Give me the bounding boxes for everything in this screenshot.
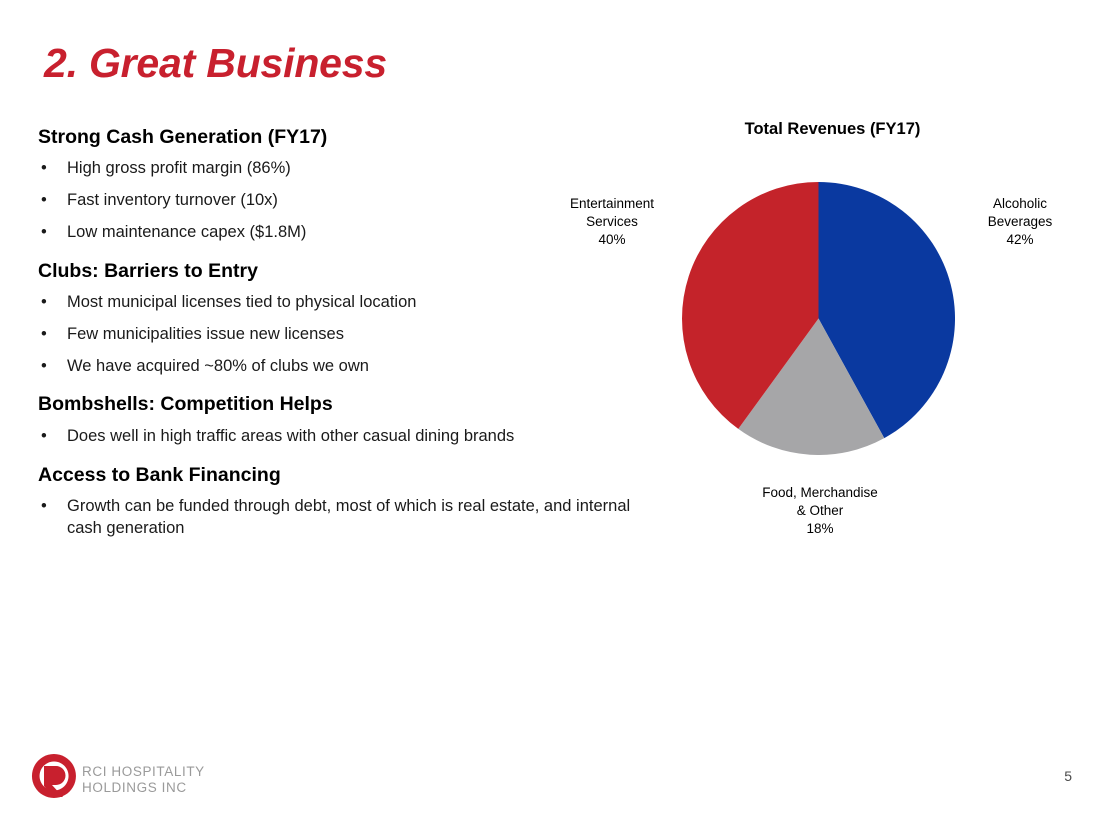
chart-title: Total Revenues (FY17) [545, 120, 1090, 139]
logo-wordmark: RCI HOSPITALITY HOLDINGS INC [82, 764, 205, 796]
list-item-label: Low maintenance capex ($1.8M) [67, 223, 306, 241]
pie-svg [682, 182, 955, 455]
pie-label-line: Food, Merchandise [705, 484, 935, 502]
list-item-label: Fast inventory turnover (10x) [67, 191, 278, 209]
pie-graphic [682, 182, 955, 455]
bullet-dot-icon: • [41, 222, 47, 244]
pie-label-line: Services [547, 213, 677, 231]
logo-line-2: HOLDINGS INC [82, 780, 205, 796]
bullet-dot-icon: • [41, 426, 47, 448]
page-title: 2. Great Business [44, 40, 387, 87]
rci-r-monogram-icon [30, 752, 78, 800]
bullet-dot-icon: • [41, 324, 47, 346]
pie-label-food-merchandise-other: Food, Merchandise & Other 18% [705, 484, 935, 538]
pie-label-value: 40% [547, 231, 677, 249]
list-item-label: Does well in high traffic areas with oth… [67, 427, 514, 445]
pie-label-alcoholic-beverages: Alcoholic Beverages 42% [955, 195, 1085, 249]
company-logo: RCI HOSPITALITY HOLDINGS INC [30, 752, 220, 808]
pie-label-line: Beverages [955, 213, 1085, 231]
bullet-dot-icon: • [41, 292, 47, 314]
bullet-dot-icon: • [41, 190, 47, 212]
list-item-label: High gross profit margin (86%) [67, 159, 291, 177]
bullet-dot-icon: • [41, 158, 47, 180]
revenue-pie-chart: Total Revenues (FY17) Entertainment Serv… [545, 120, 1090, 560]
pie-label-value: 42% [955, 231, 1085, 249]
pie-label-entertainment: Entertainment Services 40% [547, 195, 677, 249]
bullet-dot-icon: • [41, 496, 47, 518]
pie-label-line: Entertainment [547, 195, 677, 213]
page-number: 5 [1064, 768, 1072, 784]
bullet-dot-icon: • [41, 356, 47, 378]
pie-label-value: 18% [705, 520, 935, 538]
logo-line-1: RCI HOSPITALITY [82, 764, 205, 780]
list-item-label: We have acquired ~80% of clubs we own [67, 357, 369, 375]
pie-label-line: & Other [705, 502, 935, 520]
pie-label-line: Alcoholic [955, 195, 1085, 213]
list-item-label: Few municipalities issue new licenses [67, 325, 344, 343]
list-item-label: Most municipal licenses tied to physical… [67, 293, 416, 311]
slide: 2. Great Business Strong Cash Generation… [0, 0, 1100, 825]
